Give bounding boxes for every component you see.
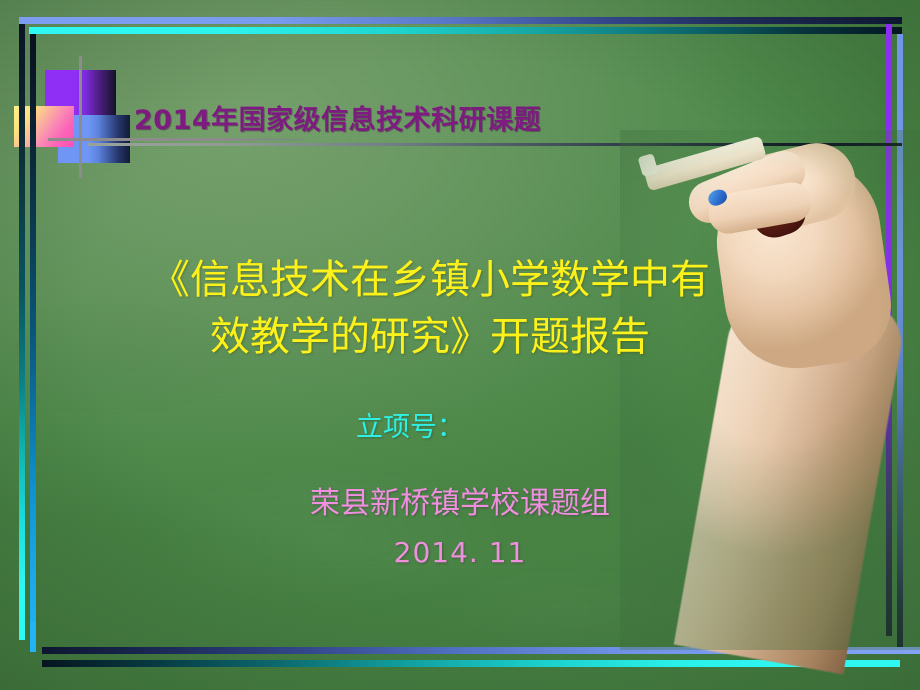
main-title-line-2: 效教学的研究》开题报告 <box>60 309 800 366</box>
crosshair-vertical-icon <box>79 56 82 178</box>
crosshair-horizontal-icon <box>48 138 303 141</box>
frame-top-blue-bar <box>19 17 902 24</box>
date-label: 2014. 11 <box>0 536 920 569</box>
main-title: 《信息技术在乡镇小学数学中有 效教学的研究》开题报告 <box>60 252 800 366</box>
presentation-slide: 2014年国家级信息技术科研课题 《信息技术在乡镇小学数学中有 效教学的研究》开… <box>0 0 920 690</box>
organization-label: 荣县新桥镇学校课题组 <box>0 478 920 522</box>
main-title-line-1: 《信息技术在乡镇小学数学中有 <box>60 252 800 309</box>
project-number-label: 立项号： <box>0 405 870 444</box>
frame-bottom-left-cyan-bar <box>19 612 25 640</box>
header-title: 2014年国家级信息技术科研课题 <box>134 98 541 137</box>
hand-holding-chalk-illustration <box>620 130 920 650</box>
frame-bottom-left-blue-bar <box>30 622 36 652</box>
frame-top-cyan-bar <box>29 27 902 34</box>
hand-edge-blend <box>620 130 920 650</box>
